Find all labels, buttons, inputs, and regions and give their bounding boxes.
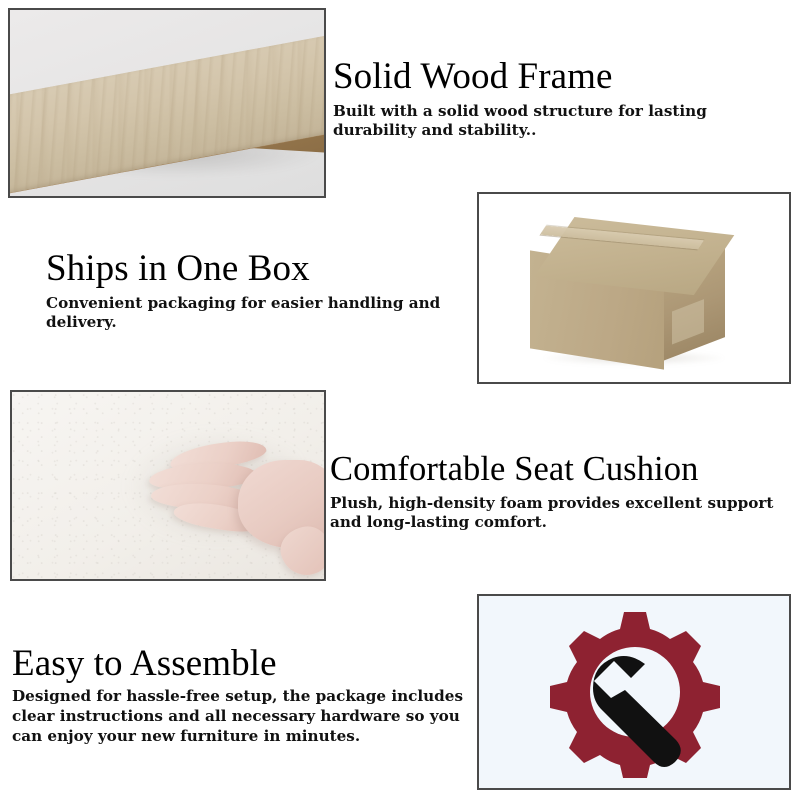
feature-text-comfortable-seat-cushion: Comfortable Seat Cushion Plush, high-den… [330, 452, 796, 532]
feature-description: Convenient packaging for easier handling… [46, 294, 476, 333]
feature-title: Ships in One Box [46, 250, 476, 287]
feature-infographic: Solid Wood Frame Built with a solid wood… [0, 0, 800, 800]
gear-wrench-icon [541, 606, 727, 778]
feature-description: Plush, high-density foam provides excell… [330, 494, 796, 533]
feature-image-easy-to-assemble [477, 594, 791, 790]
hand-pressing-foam [149, 441, 326, 561]
feature-text-solid-wood-frame: Solid Wood Frame Built with a solid wood… [333, 58, 793, 141]
feature-description: Built with a solid wood structure for la… [333, 102, 793, 141]
feature-title: Easy to Assemble [12, 645, 468, 682]
feature-image-solid-wood-frame [8, 8, 326, 198]
feature-title: Comfortable Seat Cushion [330, 452, 796, 487]
feature-image-ships-in-one-box [477, 192, 791, 384]
feature-image-comfortable-seat-cushion [10, 390, 326, 581]
feature-text-ships-in-one-box: Ships in One Box Convenient packaging fo… [46, 250, 476, 333]
feature-description: Designed for hassle-free setup, the pack… [12, 687, 468, 746]
feature-title: Solid Wood Frame [333, 58, 793, 95]
cardboard-box [528, 217, 740, 367]
feature-text-easy-to-assemble: Easy to Assemble Designed for hassle-fre… [12, 645, 468, 746]
